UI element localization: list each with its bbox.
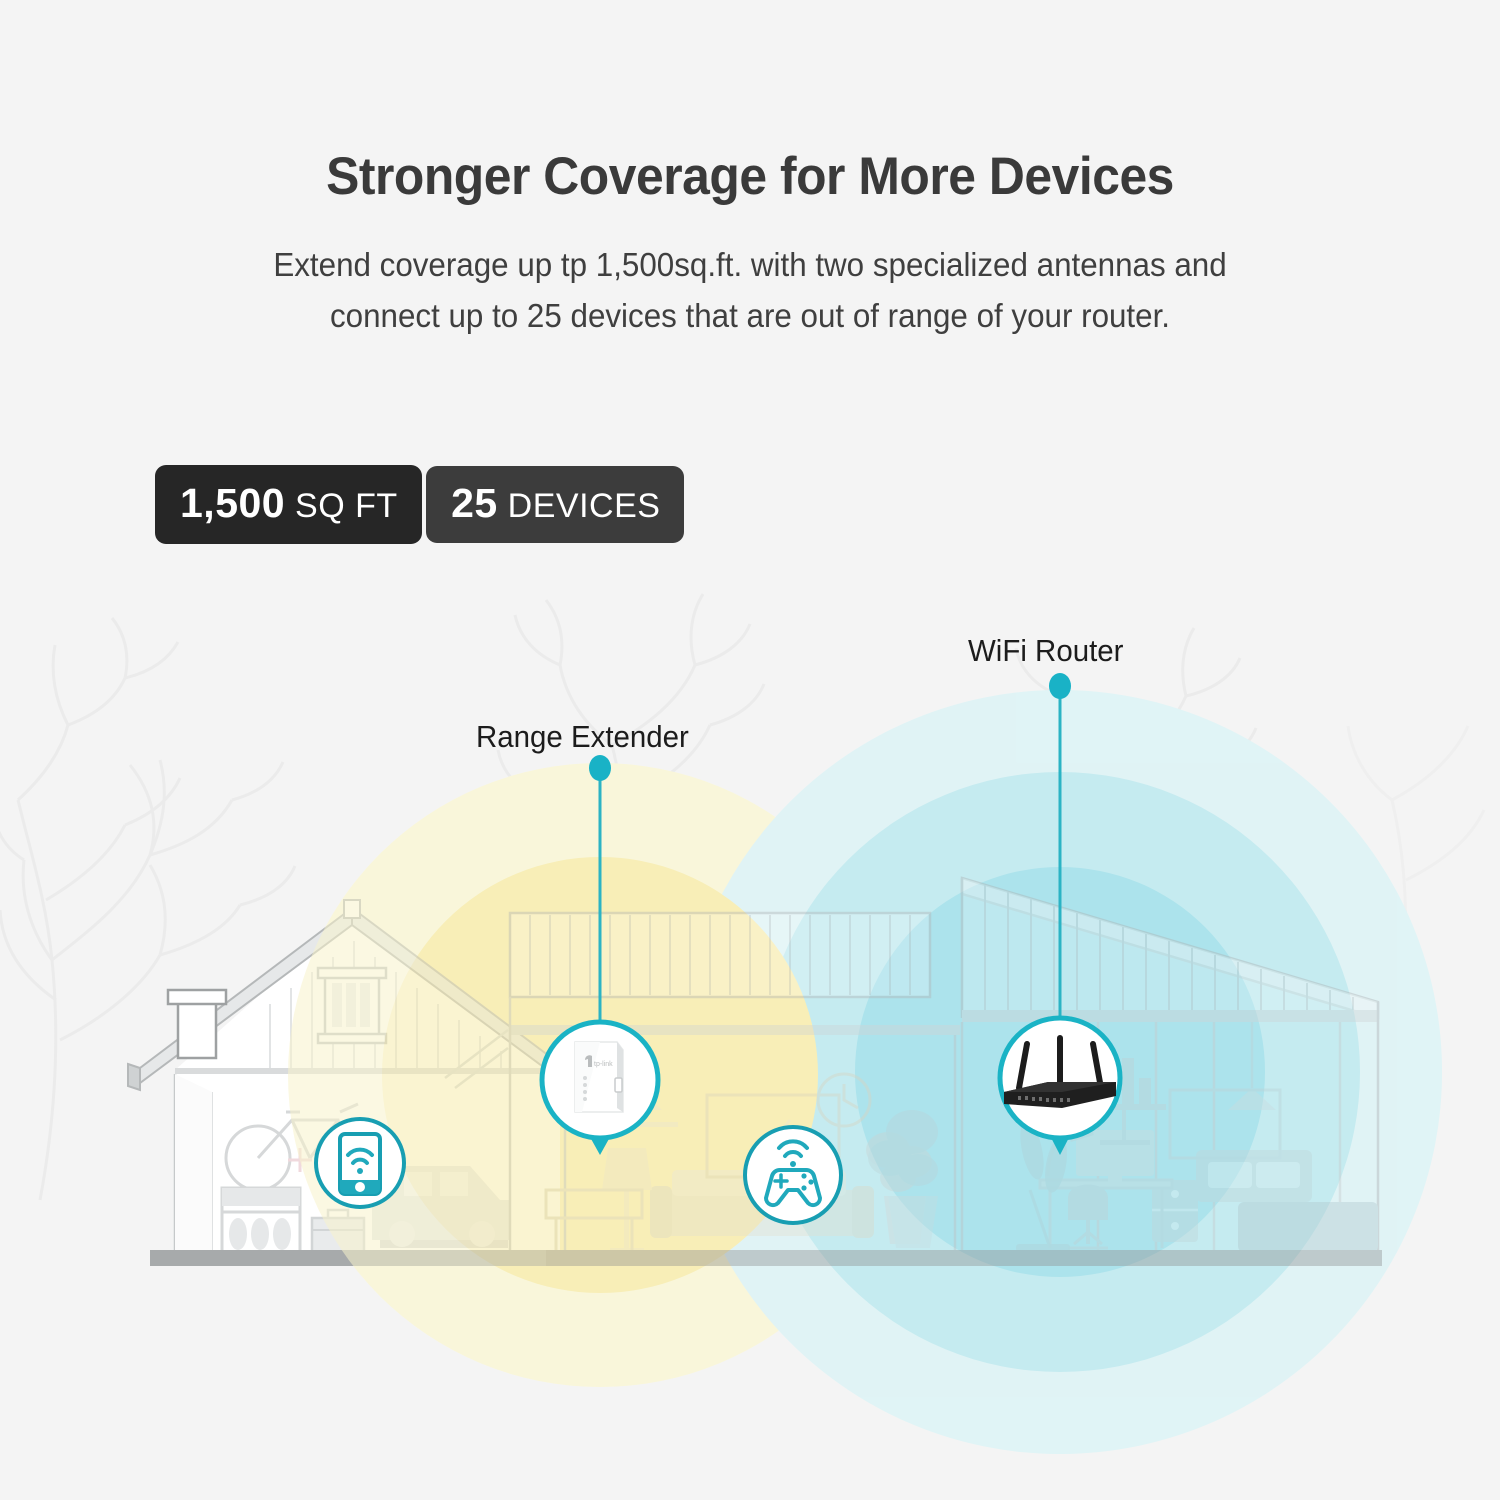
badge-area-unit: SQ FT xyxy=(285,487,398,525)
badge-devices-unit: DEVICES xyxy=(498,487,661,525)
subtitle-line-1: Extend coverage up tp 1,500sq.ft. with t… xyxy=(38,239,1463,290)
chimney xyxy=(178,1000,216,1058)
ethernet-port xyxy=(615,1078,622,1092)
callout-label-extender: Range Extender xyxy=(476,719,689,755)
svg-text:tp-link: tp-link xyxy=(594,1061,613,1068)
page-title: Stronger Coverage for More Devices xyxy=(45,146,1455,207)
badge-area: 1,500 SQ FT xyxy=(155,465,422,544)
phone-wifi-icon-badge[interactable] xyxy=(316,1119,404,1207)
badge-area-number: 1,500 xyxy=(180,480,285,526)
range-extender-device: tp-link xyxy=(575,1042,623,1112)
header: Stronger Coverage for More Devices Exten… xyxy=(0,0,1500,341)
stat-badges: 1,500 SQ FT 25 DEVICES xyxy=(155,462,684,544)
gamepad-wifi-icon-badge[interactable] xyxy=(745,1127,841,1223)
callout-label-router: WiFi Router xyxy=(968,633,1123,669)
badge-devices: 25 DEVICES xyxy=(426,466,684,543)
page-subtitle: Extend coverage up tp 1,500sq.ft. with t… xyxy=(38,239,1463,341)
badge-devices-number: 25 xyxy=(451,480,498,526)
coverage-circles-overlay xyxy=(288,690,1442,1454)
subtitle-line-2: connect up to 25 devices that are out of… xyxy=(38,290,1463,341)
